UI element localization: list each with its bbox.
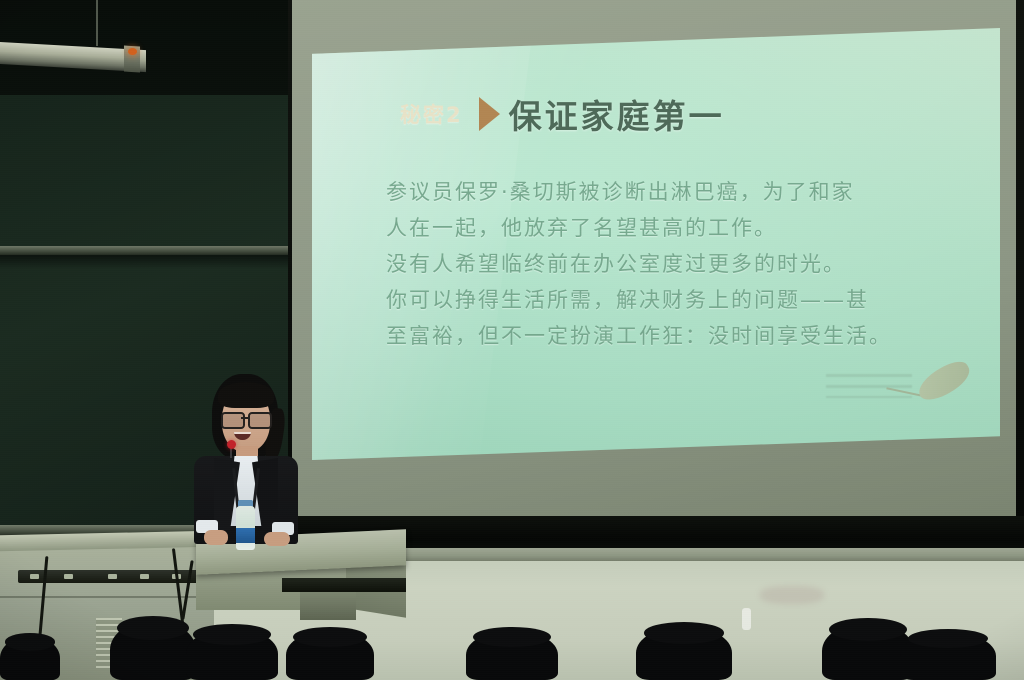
presenter-fringe	[218, 382, 274, 408]
slide-body-line: 至富裕，但不一定扮演工作狂：没时间享受生活。	[386, 318, 948, 354]
audience-head	[0, 636, 60, 680]
audience-head	[636, 626, 732, 680]
feather-quill-icon	[913, 356, 975, 405]
lectern-base	[300, 592, 356, 620]
slide-header: 秘密2 保证家庭第一	[386, 90, 948, 138]
presenter-hand-left	[204, 530, 228, 545]
slide-body: 参议员保罗·桑切斯被诊断出淋巴癌，为了和家 人在一起，他放弃了名望甚高的工作。 …	[386, 174, 948, 355]
glasses-bridge	[241, 417, 248, 419]
audience-head	[186, 628, 278, 680]
lamp-indicator-led	[128, 48, 137, 55]
slide-body-line: 人在一起，他放弃了名望甚高的工作。	[386, 210, 948, 246]
lectern-shelf	[282, 578, 406, 592]
glasses-lens-right	[248, 412, 272, 429]
blackboard-rail-upper	[0, 246, 292, 255]
wall-marker	[742, 608, 751, 630]
microphone-stem	[230, 448, 232, 458]
glasses-icon	[221, 412, 271, 425]
watermark-text-block	[826, 374, 912, 398]
slide-section-tag: 秘密2	[386, 97, 479, 131]
slide-watermark	[826, 366, 976, 426]
glasses-lens-left	[221, 412, 245, 429]
bottle-label	[236, 528, 255, 543]
presenter-hand-right	[264, 532, 290, 546]
microphone-icon	[227, 440, 236, 449]
wall-smudge	[760, 586, 824, 604]
lecture-hall-scene: 秘密2 保证家庭第一 参议员保罗·桑切斯被诊断出淋巴癌，为了和家 人在一起，他放…	[0, 0, 1024, 680]
slide-title: 保证家庭第一	[509, 90, 725, 138]
cabinet-button[interactable]	[30, 574, 39, 579]
projected-slide: 秘密2 保证家庭第一 参议员保罗·桑切斯被诊断出淋巴癌，为了和家 人在一起，他放…	[312, 28, 1000, 460]
audience-head	[900, 632, 996, 680]
blackboard-shadow	[0, 255, 292, 269]
cabinet-button[interactable]	[64, 574, 73, 579]
slide-body-line: 你可以挣得生活所需，解决财务上的问题——甚	[386, 282, 948, 318]
audience-head	[466, 630, 558, 680]
slide-body-line: 参议员保罗·桑切斯被诊断出淋巴癌，为了和家	[386, 174, 948, 210]
slide-body-line: 没有人希望临终前在办公室度过更多的时光。	[386, 246, 948, 282]
audience-head	[110, 620, 196, 680]
cabinet-button[interactable]	[140, 574, 149, 579]
cabinet-button[interactable]	[108, 574, 117, 579]
audience-head	[286, 630, 374, 680]
lamp-suspension-rod	[96, 0, 98, 46]
slide-content: 秘密2 保证家庭第一 参议员保罗·桑切斯被诊断出淋巴癌，为了和家 人在一起，他放…	[312, 28, 1000, 460]
